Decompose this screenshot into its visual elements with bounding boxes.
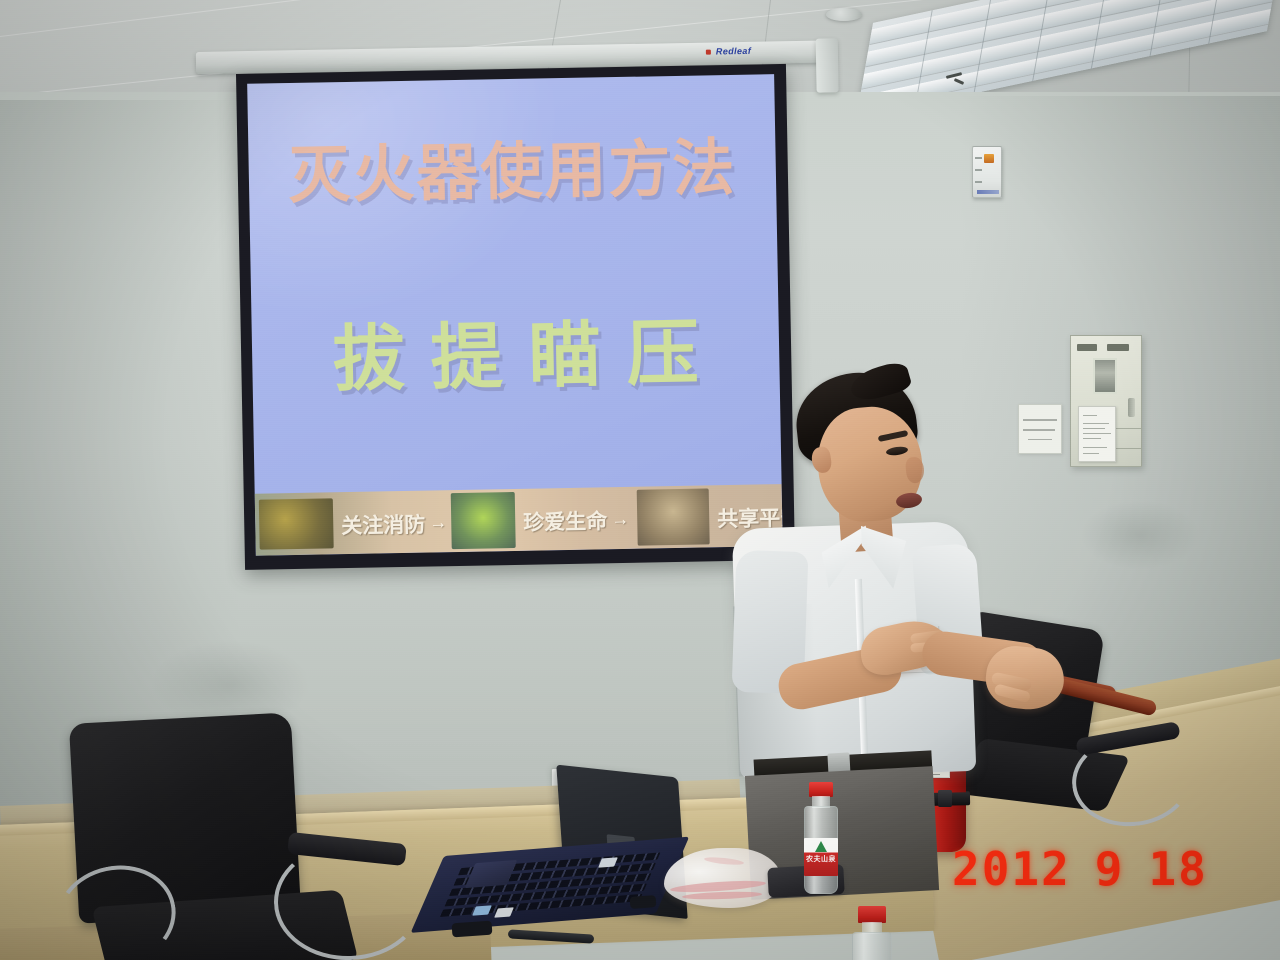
electrical-cabinet[interactable] bbox=[1070, 335, 1142, 467]
banner-text-segment-1: 关注消防 bbox=[341, 509, 426, 541]
bottle-leaf-icon bbox=[815, 841, 827, 852]
bottle-foreground-body bbox=[852, 932, 892, 960]
plastic-bag[interactable] bbox=[664, 848, 782, 908]
banner-photo-family bbox=[637, 488, 710, 545]
laptop-foot-right bbox=[630, 895, 657, 909]
banner-arrow-2-icon: → bbox=[611, 509, 629, 530]
cabinet-posted-document bbox=[1078, 406, 1116, 462]
bottle-label: 农夫山泉 bbox=[804, 838, 838, 876]
banner-photo-firefighter bbox=[259, 498, 334, 549]
camera-date-stamp: 2012 9 18 bbox=[952, 842, 1208, 896]
date-year: 2012 bbox=[952, 842, 1071, 896]
bottle-cap-icon bbox=[809, 782, 833, 797]
date-day: 18 bbox=[1148, 842, 1207, 896]
wall-control-panel[interactable] bbox=[972, 146, 1002, 198]
cabinet-handle[interactable] bbox=[1128, 398, 1135, 417]
presenter bbox=[700, 355, 1040, 895]
conference-chair-left[interactable] bbox=[60, 718, 440, 960]
panel-brand-strip bbox=[977, 190, 999, 194]
bottle-foreground-cap-icon bbox=[858, 906, 886, 923]
brand-dot-icon bbox=[706, 50, 711, 55]
date-month: 9 bbox=[1095, 842, 1125, 896]
panel-indicator-icon bbox=[984, 154, 994, 163]
cabinet-meter-window bbox=[1093, 358, 1117, 394]
photo-scene: Redleaf 灭火器使用方法 拔提瞄压 关注消防 → 珍爱生命 → 共享平安 bbox=[0, 0, 1280, 960]
water-bottle-center[interactable]: 农夫山泉 bbox=[798, 782, 844, 894]
banner-arrow-1-icon: → bbox=[429, 512, 447, 533]
presenter-nose bbox=[905, 456, 926, 484]
smoke-detector-icon bbox=[826, 8, 862, 21]
slide-title: 灭火器使用方法 bbox=[248, 116, 777, 216]
banner-text-segment-2: 珍爱生命 bbox=[523, 505, 608, 537]
projector-brand-label: Redleaf bbox=[716, 46, 751, 57]
laptop-foot-left bbox=[452, 921, 493, 938]
screen-case-endcap bbox=[816, 38, 839, 92]
water-bottle-foreground[interactable] bbox=[846, 906, 898, 960]
banner-photo-plant bbox=[451, 492, 516, 549]
